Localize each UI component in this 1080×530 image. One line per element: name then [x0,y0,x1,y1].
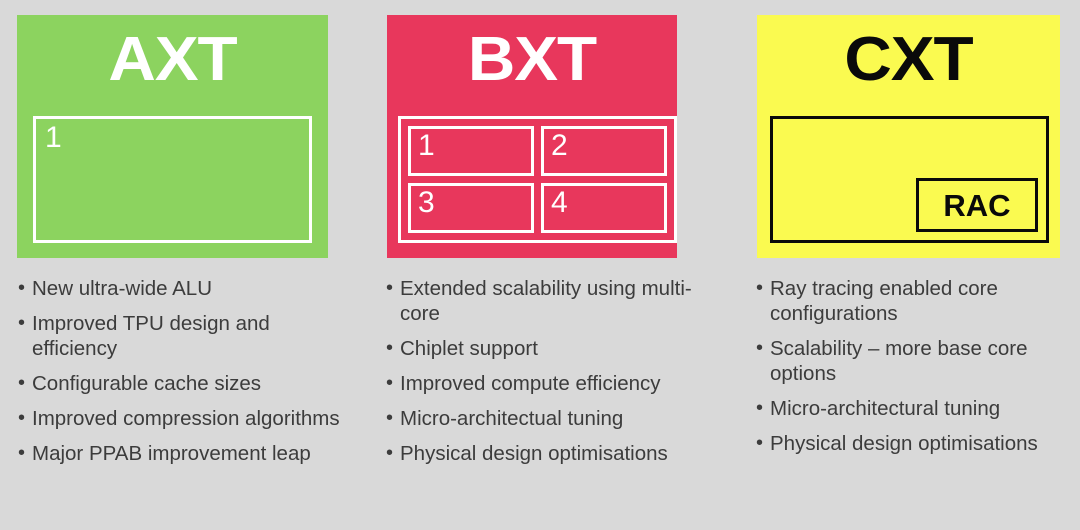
core-cell: 3 [408,183,534,233]
core-number-label: 2 [551,129,568,162]
core-number-label: 1 [45,121,62,155]
core-number-label: 3 [418,186,435,219]
product-logo-cxt: CXT [748,29,1069,91]
core-cell: 1 [408,126,534,176]
core-diagram-axt: 1 [33,116,312,243]
list-item: Ray tracing enabled core configurations [756,276,1076,326]
core-number-label: 1 [418,129,435,162]
list-item: Improved TPU design and efficiency [18,311,358,361]
product-card-bxt: BXT 1 2 3 4 [387,15,677,258]
list-item: New ultra-wide ALU [18,276,358,301]
list-item: Improved compression algorithms [18,406,358,431]
product-card-axt: AXT 1 [17,15,328,258]
list-item: Physical design optimisations [756,431,1076,456]
list-item: Micro-architectual tuning [386,406,716,431]
rac-block: RAC [916,178,1038,232]
product-logo-axt: AXT [8,29,338,91]
list-item: Configurable cache sizes [18,371,358,396]
gpu-family-comparison-board: AXT 1 New ultra-wide ALU Improved TPU de… [0,0,1080,530]
list-item: Major PPAB improvement leap [18,441,358,466]
core-diagram-bxt: 1 2 3 4 [398,116,677,243]
core-number-label: 4 [551,186,568,219]
list-item: Physical design optimisations [386,441,716,466]
list-item: Micro-architectural tuning [756,396,1076,421]
list-item: Improved compute efficiency [386,371,716,396]
product-logo-bxt: BXT [378,29,685,91]
product-column-axt: AXT 1 New ultra-wide ALU Improved TPU de… [17,0,359,530]
rac-label: RAC [943,190,1010,221]
feature-list-axt: New ultra-wide ALU Improved TPU design a… [18,276,358,476]
product-column-cxt: CXT RAC Ray tracing enabled core configu… [757,0,1080,530]
product-column-bxt: BXT 1 2 3 4 Extended scalability using m… [387,0,729,530]
product-card-cxt: CXT RAC [757,15,1060,258]
list-item: Chiplet support [386,336,716,361]
list-item: Scalability – more base core options [756,336,1076,386]
list-item: Extended scalability using multi-core [386,276,716,326]
core-diagram-cxt: RAC [770,116,1049,243]
feature-list-cxt: Ray tracing enabled core configurations … [756,276,1076,466]
feature-list-bxt: Extended scalability using multi-core Ch… [386,276,716,476]
core-cell: 2 [541,126,667,176]
core-cell: 4 [541,183,667,233]
